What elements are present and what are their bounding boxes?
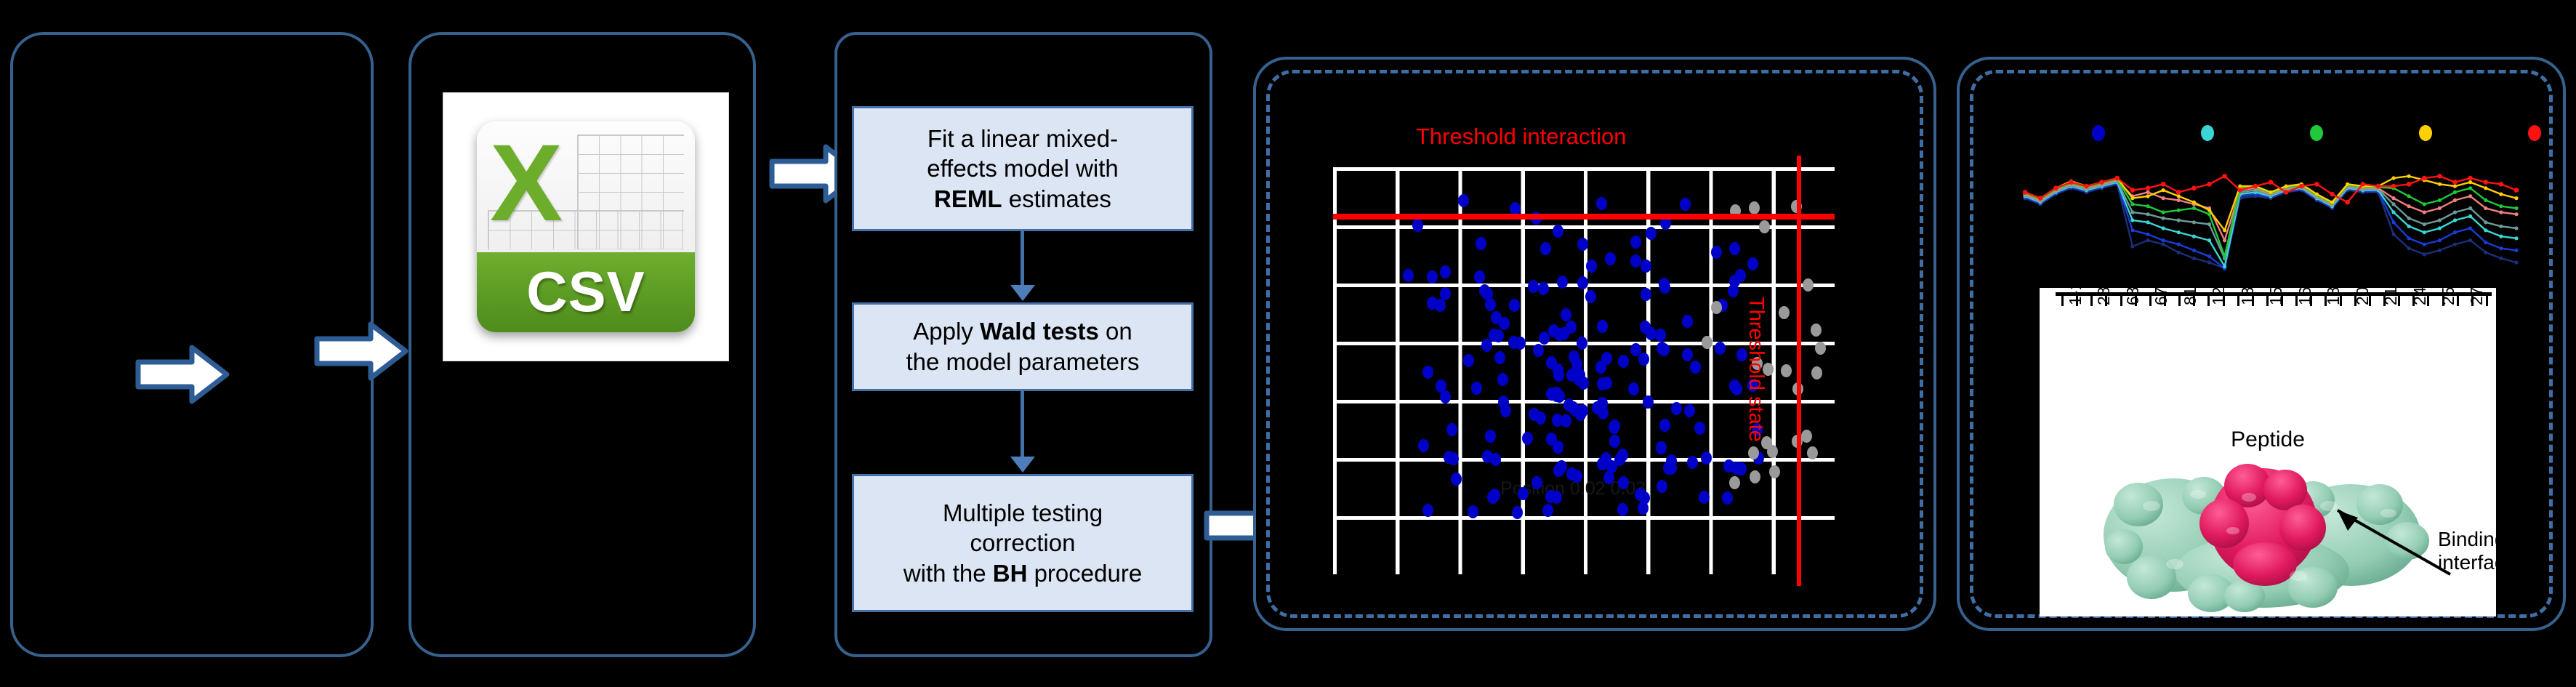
line-marker [2484, 220, 2487, 224]
scatter-point [1617, 503, 1628, 516]
peptide-label: 184-199 [2324, 288, 2343, 305]
line-marker [2438, 198, 2442, 202]
line-marker [2130, 202, 2134, 206]
scatter-point-nonsignificant [1781, 364, 1792, 377]
line-marker [2391, 184, 2396, 189]
scatter-point [1680, 198, 1691, 211]
line-marker [2438, 206, 2442, 210]
scatter-point [1618, 355, 1629, 368]
csv-band: CSV [477, 252, 695, 332]
line-marker [2146, 238, 2149, 242]
line-marker [2499, 246, 2503, 250]
x-tick [2090, 296, 2093, 306]
line-marker [2484, 251, 2487, 254]
line-marker [2423, 252, 2426, 256]
line-marker [2422, 176, 2427, 181]
scatter-point [1440, 390, 1451, 403]
scatter-point [1481, 339, 1492, 352]
scatter-point-nonsignificant [1807, 446, 1818, 459]
scatter-point [1630, 236, 1641, 249]
scatter-point [1463, 354, 1474, 367]
line-marker [2207, 260, 2211, 264]
line-marker [2514, 188, 2519, 193]
line-marker [2499, 193, 2503, 196]
scatter-point [1468, 505, 1478, 518]
line-marker [2130, 228, 2134, 232]
peptide-label: 258-266 [2439, 288, 2458, 305]
line-marker [2407, 236, 2411, 240]
line-marker [2162, 188, 2165, 192]
line-marker [2084, 184, 2089, 189]
line-marker [2191, 186, 2197, 191]
threshold-state-label: Threshold state [1744, 297, 1768, 442]
line-marker [2162, 210, 2165, 214]
line-marker [2207, 209, 2211, 212]
line-marker [2407, 225, 2411, 228]
binding-interface-arrow [2316, 499, 2454, 580]
line-marker [2177, 209, 2181, 212]
scatter-point [1609, 421, 1619, 434]
csv-card: X CSV [477, 121, 695, 332]
scatter-point [1646, 227, 1657, 240]
line-marker [2346, 182, 2349, 186]
scatter-point [1715, 342, 1726, 355]
scatter-point-nonsignificant [1729, 476, 1740, 489]
connector-arrowhead-1 [1010, 285, 1035, 301]
scatter-grid-top [1333, 167, 1835, 171]
line-marker [2162, 226, 2165, 230]
scatter-point [1485, 430, 1496, 443]
scatter-point [1510, 202, 1521, 215]
scatter-point [1515, 337, 1526, 350]
scatter-point [1553, 441, 1563, 454]
scatter-point [1671, 402, 1682, 415]
scatter-point [1546, 387, 1557, 401]
scatter-point [1551, 491, 1562, 504]
line-marker [2162, 243, 2165, 246]
arrow-into-input [135, 343, 230, 406]
line-marker [2269, 180, 2274, 185]
scatter-point [1659, 419, 1670, 432]
scatter-point [1711, 246, 1722, 259]
line-marker [2177, 194, 2181, 198]
legend-dot-series-cyan [2201, 125, 2214, 141]
line-marker [2514, 206, 2518, 210]
line-marker [2130, 196, 2134, 200]
line-marker [2514, 249, 2518, 252]
scatter-point [1491, 311, 1502, 324]
step-reml-line1: Fit a linear mixed- [927, 125, 1118, 152]
peptide-label: 135-144 [2238, 288, 2258, 305]
line-marker [2514, 196, 2518, 200]
step-reml-box[interactable]: Fit a linear mixed- effects model with R… [852, 106, 1194, 231]
scatter-point-nonsignificant [1750, 470, 1760, 483]
line-marker [2146, 194, 2149, 198]
scatter-point [1436, 379, 1446, 393]
line-marker [2484, 228, 2487, 232]
scatter-point [1605, 252, 1616, 265]
line-marker [2314, 182, 2319, 187]
line-marker [2253, 184, 2258, 189]
binding-interface-label: Binding interface [2438, 528, 2496, 574]
line-marker [2069, 180, 2074, 185]
scatter-point [1618, 476, 1629, 489]
line-marker [2468, 180, 2472, 184]
peptide-label: 167-180 [2295, 288, 2315, 305]
connector-wald-to-bh [1021, 391, 1024, 458]
scatter-point [1435, 299, 1446, 312]
line-marker [2146, 212, 2149, 216]
step-reml-line2: effects model with [927, 155, 1119, 182]
scatter-point [1656, 441, 1667, 454]
scatter-point [1538, 282, 1549, 295]
line-marker [2223, 228, 2226, 232]
line-marker [2223, 265, 2226, 268]
scatter-point [1682, 315, 1693, 328]
structure-white-card: 0.0 1-1528-4463-7367-7581-101122-129135-… [2040, 288, 2496, 616]
line-marker [2438, 218, 2442, 222]
line-marker [2023, 190, 2028, 195]
line-marker [2437, 174, 2442, 179]
line-marker [2468, 226, 2472, 230]
line-marker [2130, 188, 2136, 193]
pipeline-diagram: X CSV Fit a linear mixed- effects model … [0, 0, 2576, 687]
line-marker [2177, 243, 2181, 246]
binding-label-line2: interface [2438, 551, 2496, 574]
line-marker [2391, 210, 2395, 214]
line-marker [2438, 182, 2442, 186]
step-wald-box[interactable]: Apply Wald tests on the model parameters [852, 302, 1194, 391]
scatter-point [1729, 379, 1740, 393]
line-marker [2423, 243, 2426, 246]
step-bh-post: procedure [1027, 560, 1142, 587]
line-marker [2391, 233, 2395, 236]
threshold-state-line [1797, 156, 1801, 586]
line-marker [2407, 217, 2411, 220]
scatter-point [1659, 278, 1670, 291]
scatter-point [1554, 328, 1565, 341]
line-marker [2453, 218, 2457, 222]
line-marker [2130, 244, 2134, 248]
peptide-label: 67-75 [2152, 288, 2171, 305]
peptide-structure-figure[interactable]: 0.0 1-1528-4463-7367-7581-101122-129135-… [1993, 86, 2531, 616]
peptide-label: 28-44 [2094, 288, 2114, 305]
line-marker [2407, 182, 2412, 187]
line-marker [2499, 225, 2503, 228]
scatter-point-nonsignificant [1815, 342, 1826, 355]
line-marker [2453, 230, 2457, 234]
line-marker [2161, 182, 2166, 187]
scatter-point [1722, 491, 1733, 505]
connector-reml-to-wald [1021, 231, 1024, 286]
x-axis-title: Peptide [2040, 427, 2496, 452]
line-marker [2207, 222, 2211, 226]
line-marker [2468, 186, 2472, 190]
step-bh-pre: with the [903, 560, 993, 587]
line-marker [2376, 184, 2381, 189]
line-marker [2146, 204, 2149, 208]
scatter-point [1528, 280, 1539, 293]
peptide-line-chart [2005, 164, 2525, 275]
line-marker [2423, 222, 2426, 226]
x-tick [2120, 296, 2122, 306]
scatter-point [1639, 491, 1650, 505]
line-chart-svg [2005, 164, 2525, 275]
scatter-grid-left [1333, 167, 1337, 574]
step-wald-line2: the model parameters [906, 348, 1140, 375]
line-marker [2468, 214, 2472, 218]
peptide-label: 1-15 [2066, 288, 2085, 305]
line-marker [2453, 243, 2457, 246]
scatter-point [1531, 476, 1542, 489]
line-marker [2468, 194, 2472, 198]
line-marker [2468, 238, 2472, 242]
scatter-point [1682, 348, 1693, 361]
line-marker [2453, 198, 2457, 202]
scatter-point [1747, 257, 1758, 270]
line-marker [2499, 235, 2503, 238]
line-marker [2484, 206, 2487, 210]
line-marker [2453, 210, 2457, 214]
line-marker [2361, 182, 2366, 187]
line-marker [2407, 246, 2411, 250]
scatter-point [1458, 194, 1469, 207]
line-marker [2514, 236, 2518, 240]
scatter-point [1509, 299, 1520, 312]
scatter-point-nonsignificant [1811, 366, 1822, 379]
line-marker [2499, 210, 2503, 214]
scatter-point [1597, 320, 1608, 333]
peptide-label: 81-101 [2181, 288, 2200, 305]
scatter-point [1736, 462, 1747, 475]
scatter-chart[interactable]: Threshold interaction Position 0.02 0.03… [1294, 86, 1896, 602]
peptide-label: 241-257 [2410, 288, 2430, 305]
line-marker [2284, 190, 2289, 195]
peptide-label: 158-166 [2266, 288, 2286, 305]
line-marker [2452, 180, 2458, 185]
step-reml-line3: estimates [1002, 185, 1111, 212]
step-bh-box[interactable]: Multiple testing correction with the BH … [852, 474, 1194, 612]
scatter-point [1422, 366, 1433, 379]
scatter-point [1539, 332, 1550, 345]
line-marker [2330, 201, 2334, 204]
scatter-point [1585, 290, 1596, 303]
line-marker [2438, 238, 2442, 242]
scatter-point [1601, 352, 1612, 365]
line-marker [2146, 233, 2149, 236]
peptide-label: 218-237 [2381, 288, 2401, 305]
line-marker [2299, 184, 2304, 189]
scatter-point-nonsignificant [1749, 201, 1760, 214]
line-marker [2407, 204, 2411, 208]
step-wald-pre: Apply [913, 318, 980, 345]
line-marker [2438, 249, 2442, 252]
line-marker [2207, 254, 2211, 258]
binding-label-line1: Binding [2438, 528, 2496, 551]
scatter-point [1553, 369, 1564, 382]
line-marker [2053, 186, 2058, 191]
line-marker [2130, 218, 2134, 222]
scatter-point-nonsignificant [1811, 324, 1822, 337]
line-marker [2499, 257, 2503, 260]
line-marker [2407, 194, 2411, 198]
scatter-point-nonsignificant [1769, 465, 1780, 478]
scatter-point [1606, 460, 1617, 473]
scatter-point [1418, 439, 1429, 452]
scatter-point [1518, 487, 1529, 500]
line-marker [2177, 251, 2181, 254]
step-bh-bold: BH [993, 560, 1028, 587]
line-marker [2192, 249, 2196, 252]
line-marker [2222, 174, 2227, 179]
scatter-point [1586, 260, 1597, 273]
line-marker [2484, 198, 2487, 202]
line-marker [2146, 186, 2151, 191]
connector-arrowhead-2 [1010, 457, 1035, 473]
line-marker [2391, 196, 2395, 200]
step-reml-bold: REML [934, 185, 1002, 212]
line-marker [2391, 202, 2395, 206]
scatter-point [1657, 342, 1667, 355]
line-marker [2192, 235, 2196, 238]
scatter-point-nonsignificant [1801, 430, 1812, 443]
line-marker [2453, 185, 2457, 188]
peptide-label: 277-284 [2467, 288, 2487, 305]
csv-label: CSV [526, 259, 645, 325]
scatter-point [1561, 308, 1571, 321]
line-marker [2207, 182, 2212, 187]
scatter-point [1596, 197, 1607, 210]
line-marker [2391, 220, 2395, 224]
line-marker [2177, 230, 2181, 234]
line-marker [2484, 241, 2487, 244]
line-marker [2391, 176, 2395, 180]
line-marker [2177, 198, 2181, 202]
scatter-point [1522, 432, 1533, 445]
scatter-point [1546, 356, 1557, 369]
legend-dot-series-green [2310, 125, 2323, 141]
line-marker [2038, 196, 2043, 201]
legend-dot-series-navy [2092, 125, 2105, 141]
line-marker [2099, 180, 2104, 185]
line-marker [2330, 192, 2335, 197]
scatter-point [1497, 373, 1508, 386]
scatter-point [1577, 276, 1588, 289]
line-marker [2238, 185, 2242, 188]
line-marker [2162, 238, 2165, 242]
line-marker [2162, 217, 2165, 220]
peptide-label: 63-73 [2123, 288, 2143, 305]
step-wald-post: on [1099, 318, 1132, 345]
line-marker [2223, 254, 2226, 258]
csv-file-icon[interactable]: X CSV [443, 93, 728, 361]
line-marker [2269, 190, 2272, 194]
line-marker [2192, 206, 2196, 210]
scatter-point [1494, 351, 1505, 364]
scatter-point [1446, 423, 1457, 436]
scatter-point [1570, 403, 1581, 417]
line-marker [2285, 185, 2288, 188]
scatter-point [1657, 480, 1667, 493]
step-bh-line2: correction [970, 529, 1076, 556]
scatter-point [1598, 406, 1609, 419]
scatter-point [1566, 321, 1577, 334]
line-marker [2514, 212, 2518, 216]
line-marker [2238, 188, 2243, 193]
line-marker [2484, 186, 2487, 190]
line-marker [2468, 176, 2473, 181]
line-marker [2115, 176, 2120, 181]
scatter-point [1490, 453, 1501, 466]
line-marker [2162, 196, 2165, 200]
scatter-point [1557, 276, 1568, 289]
line-marker [2146, 220, 2149, 224]
threshold-interaction-label: Threshold interaction [1416, 124, 1627, 150]
scatter-point [1471, 382, 1482, 395]
series-legend [2005, 122, 2525, 144]
legend-dot-series-yellow [2419, 125, 2432, 141]
legend-dot-series-red [2528, 125, 2541, 141]
peptide-label: 200-214 [2353, 288, 2372, 305]
line-marker [2499, 204, 2503, 208]
scatter-point [1485, 298, 1496, 311]
arrow-input-to-csv [314, 320, 408, 382]
line-marker [2514, 226, 2518, 230]
scatter-point [1448, 452, 1459, 465]
line-marker [2192, 220, 2196, 224]
scatter-point [1640, 321, 1651, 334]
scatter-point [1540, 242, 1551, 255]
scatter-point [1641, 260, 1651, 273]
line-marker [2499, 182, 2504, 187]
scatter-point [1601, 377, 1612, 390]
scatter-point [1728, 284, 1739, 297]
line-marker [2514, 260, 2518, 264]
line-marker [2176, 190, 2181, 195]
line-marker [2315, 193, 2319, 196]
line-marker [2177, 218, 2181, 222]
scatter-point [1500, 404, 1511, 417]
line-marker [2345, 200, 2350, 205]
x-tick [2061, 296, 2064, 306]
step-wald-bold: Wald tests [980, 318, 1099, 345]
line-marker [2468, 206, 2472, 210]
line-marker [2207, 238, 2211, 242]
line-marker [2423, 210, 2426, 214]
step-bh-line1: Multiple testing [943, 499, 1103, 526]
peptide-label: 122-129 [2209, 288, 2229, 305]
line-marker [2130, 210, 2134, 214]
scatter-point [1476, 237, 1486, 250]
line-marker [2438, 226, 2442, 230]
line-marker [2407, 174, 2411, 178]
scatter-point [1474, 270, 1485, 284]
line-marker [2192, 257, 2196, 260]
scatter-point-nonsignificant [1748, 446, 1759, 459]
line-marker [2192, 201, 2196, 204]
line-marker [2146, 190, 2149, 194]
scatter-point [1571, 358, 1582, 371]
scatter-point-nonsignificant [1711, 301, 1722, 314]
scatter-point [1403, 269, 1414, 282]
line-marker [2484, 180, 2489, 185]
scatter-point [1535, 411, 1546, 425]
scatter-point-nonsignificant [1759, 220, 1770, 233]
threshold-interaction-line [1333, 214, 1835, 220]
scatter-point [1628, 382, 1639, 395]
scatter-point-nonsignificant [1702, 336, 1712, 349]
line-marker [2423, 230, 2426, 234]
